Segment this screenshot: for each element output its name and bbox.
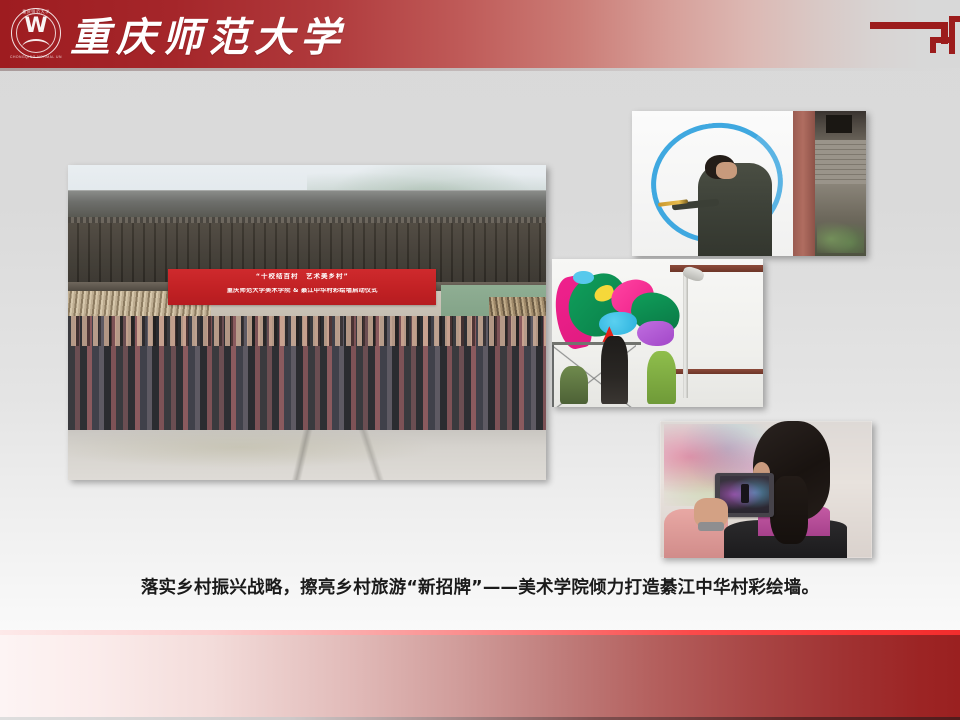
- ceremony-banner: “十校结百村 艺术美乡村” 重庆师范大学美术学院 & 綦江中华村彩绘墙启动仪式: [168, 269, 436, 305]
- fret-bar: [930, 37, 936, 53]
- red-pillar: [793, 111, 814, 256]
- phoenix-mural-painting-photo[interactable]: [552, 259, 763, 407]
- building-roof: [68, 190, 546, 218]
- banner-line-2: 重庆师范大学美术学院 & 綦江中华村彩绘墙启动仪式: [168, 288, 436, 294]
- ponytail: [770, 476, 808, 545]
- visitor-filming-mural-photo[interactable]: [660, 421, 872, 558]
- painter-crouching: [560, 366, 587, 404]
- slide-caption: 落实乡村振兴战略，擦亮乡村旅游“新招牌”——美术学院倾力打造綦江中华村彩绘墙。: [0, 574, 960, 599]
- artist-drawing-circle-photo[interactable]: [632, 111, 866, 256]
- header-band-shadow: [0, 68, 960, 71]
- ceremony-group-photo[interactable]: “十校结百村 艺术美乡村” 重庆师范大学美术学院 & 綦江中华村彩绘墙启动仪式: [68, 165, 546, 480]
- seal-bottom-arc-text: CHONGQING NORMAL UNIVERSITY: [10, 55, 62, 59]
- photo-inner: [552, 259, 763, 407]
- dark-window: [826, 115, 852, 132]
- painter-standing-dark: [601, 336, 628, 404]
- stone-wall: [815, 140, 866, 184]
- mural-cyan-dot: [573, 271, 593, 284]
- artist-body: [698, 163, 773, 256]
- crowd-of-villagers: [68, 316, 546, 429]
- seal-emblem-glyph: W: [10, 15, 62, 36]
- painter-green-raincoat: [647, 351, 677, 404]
- banner-line-1: “十校结百村 艺术美乡村”: [168, 273, 436, 280]
- photo-inner: [660, 421, 872, 558]
- mural-purple-swirl: [637, 321, 674, 347]
- footer-gradient-body: [0, 635, 960, 717]
- ornament-top-right: [860, 12, 960, 60]
- slide-canvas: 重庆师范大学 W CHONGQING NORMAL UNIVERSITY 重庆师…: [0, 0, 960, 720]
- university-seal-logo: 重庆师范大学 W CHONGQING NORMAL UNIVERSITY: [10, 7, 64, 61]
- crowd-heads: [68, 316, 546, 345]
- wrist-watch: [698, 522, 723, 530]
- photo-inner: [632, 111, 866, 256]
- ground-cracks: [68, 430, 546, 480]
- screen-subject: [741, 484, 749, 503]
- footer-band: [0, 630, 960, 720]
- fret-bar: [870, 22, 948, 29]
- photo-inner: “十校结百村 艺术美乡村” 重庆师范大学美术学院 & 綦江中华村彩绘墙启动仪式: [68, 165, 546, 480]
- university-name: 重庆师范大学: [70, 8, 346, 60]
- seal-book-shape: [22, 39, 50, 49]
- concrete-ground: [68, 430, 546, 480]
- scaffold-rail: [552, 342, 641, 345]
- artist-face: [716, 162, 737, 179]
- mural-cyan-swirl: [599, 312, 636, 336]
- green-plant: [817, 218, 864, 253]
- fret-bar: [949, 16, 960, 22]
